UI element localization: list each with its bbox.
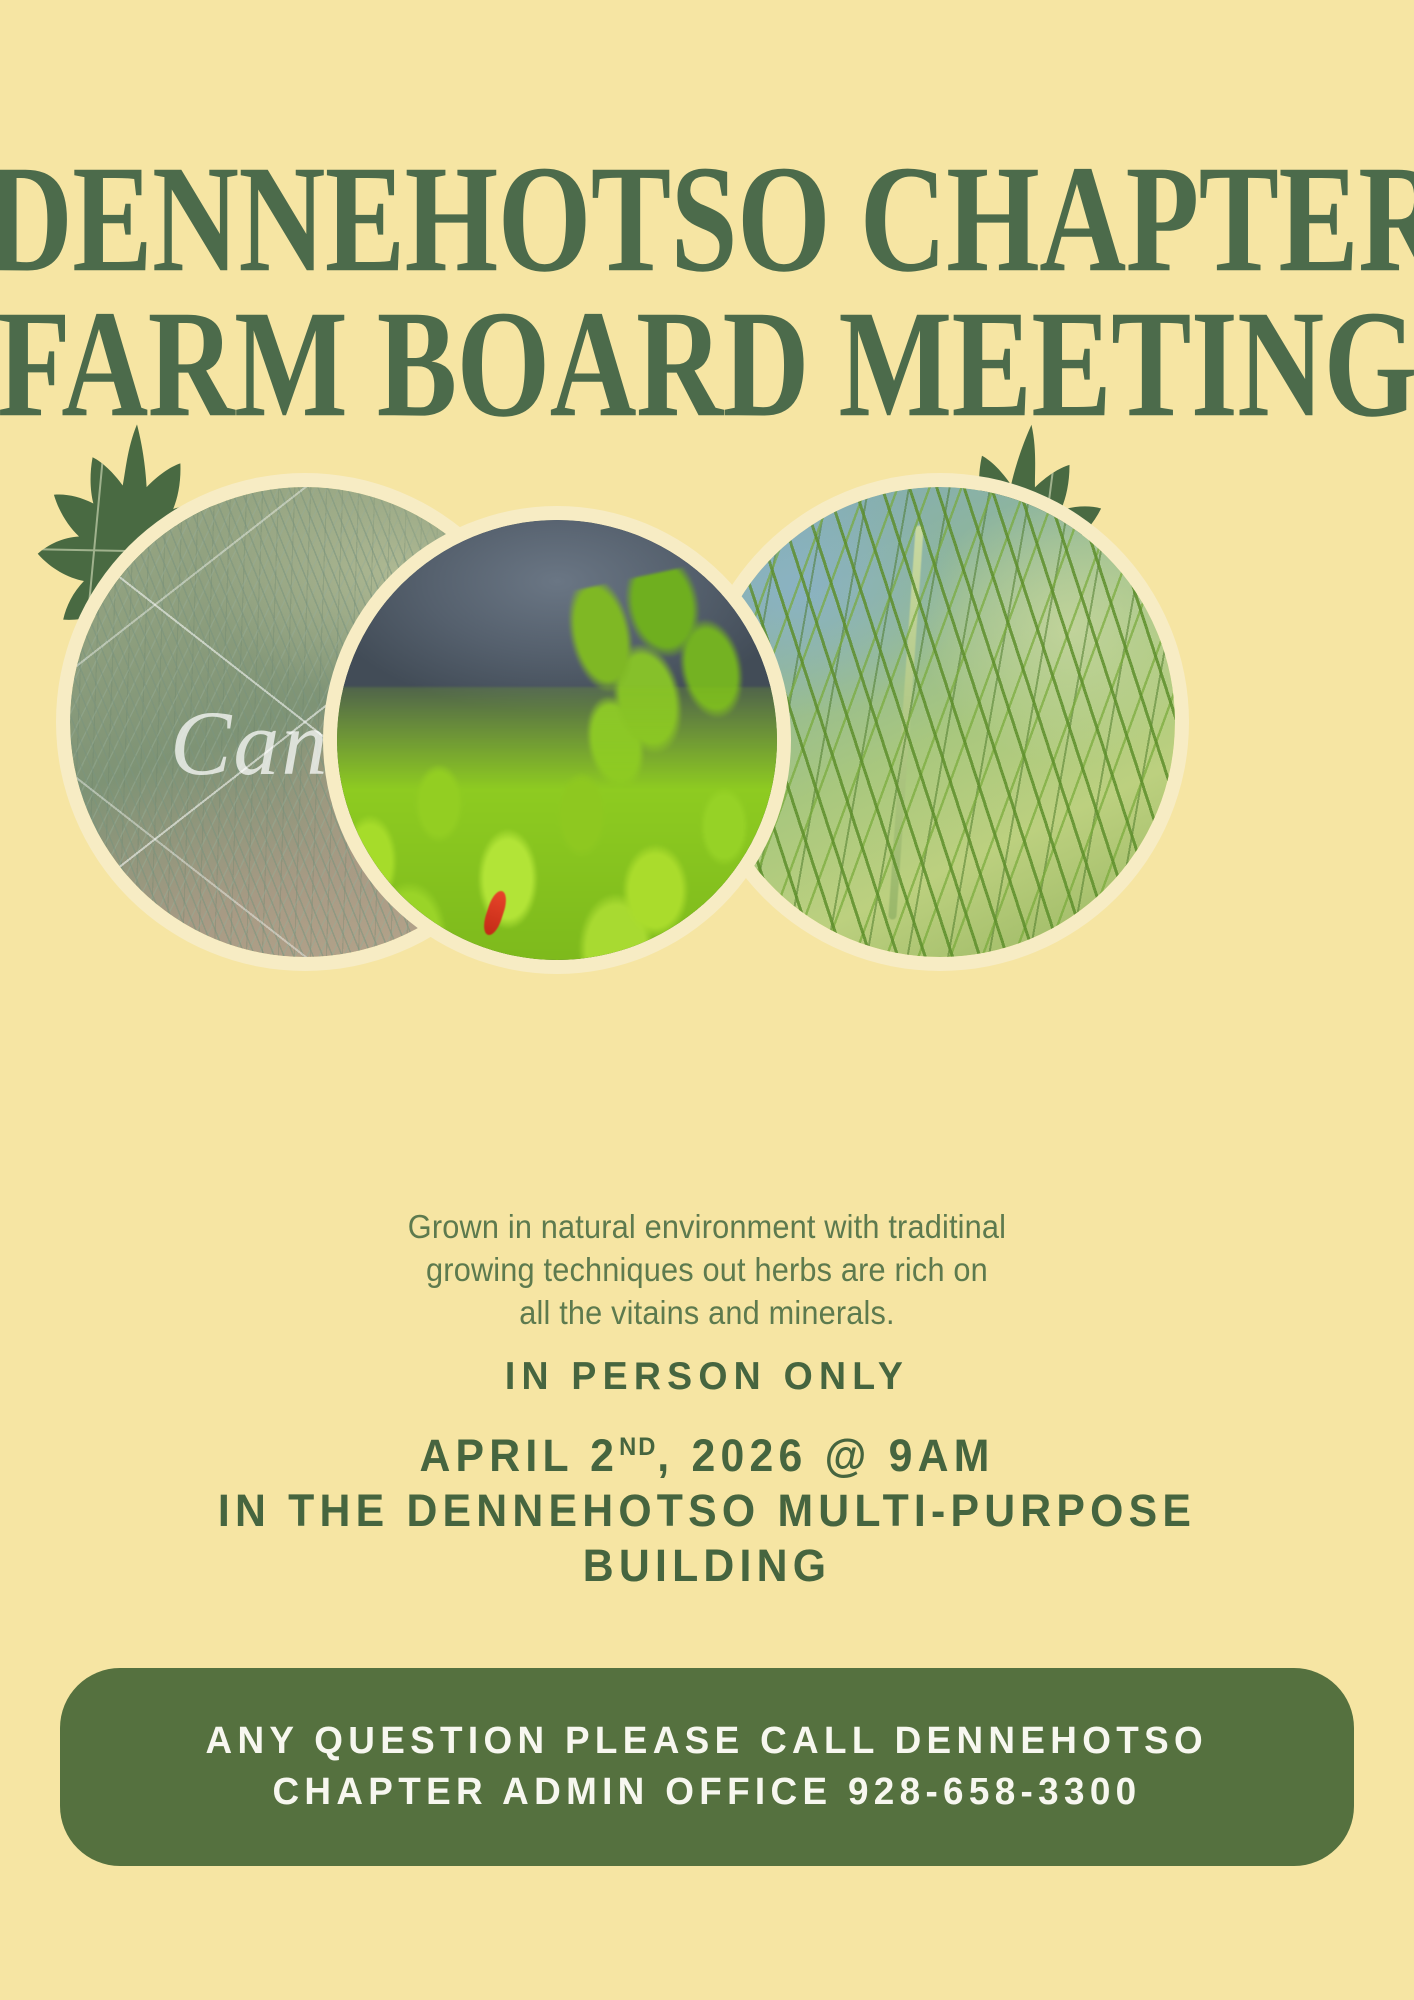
in-person-only-label: IN PERSON ONLY	[28, 1355, 1385, 1399]
event-date-line: APRIL 2ND, 2026 @ 9AM	[35, 1429, 1378, 1484]
caption-line-3: all the vitains and minerals.	[49, 1292, 1364, 1335]
green-chile-pile	[337, 687, 777, 960]
title-line-2: FARM BOARD MEETING	[0, 293, 1414, 437]
contact-banner: ANY QUESTION PLEASE CALL DENNEHOTSO CHAP…	[60, 1668, 1354, 1866]
event-location-line-2: BUILDING	[35, 1539, 1378, 1594]
title-line-1: DENNEHOTSO CHAPTER	[0, 148, 1414, 292]
date-suffix: , 2026 @ 9AM	[657, 1430, 994, 1481]
date-ordinal-suffix: ND	[619, 1433, 657, 1461]
contact-line-2: CHAPTER ADMIN OFFICE 928-658-3300	[272, 1767, 1141, 1818]
caption-paragraph: Grown in natural environment with tradit…	[49, 1206, 1364, 1335]
page-title: DENNEHOTSO CHAPTER FARM BOARD MEETING	[0, 148, 1414, 404]
event-details: IN PERSON ONLY APRIL 2ND, 2026 @ 9AM IN …	[0, 1355, 1414, 1594]
caption-line-1: Grown in natural environment with tradit…	[49, 1206, 1364, 1249]
event-location-line-1: IN THE DENNEHOTSO MULTI-PURPOSE	[35, 1484, 1378, 1539]
contact-line-1: ANY QUESTION PLEASE CALL DENNEHOTSO	[206, 1716, 1209, 1767]
photo-circle-green-chile	[337, 520, 777, 960]
date-prefix: APRIL 2	[419, 1430, 619, 1481]
poster-canvas: DENNEHOTSO CHAPTER FARM BOARD MEETING	[0, 0, 1414, 2000]
photo-circle-cluster	[0, 487, 1414, 967]
caption-line-2: growing techniques out herbs are rich on	[49, 1249, 1364, 1292]
